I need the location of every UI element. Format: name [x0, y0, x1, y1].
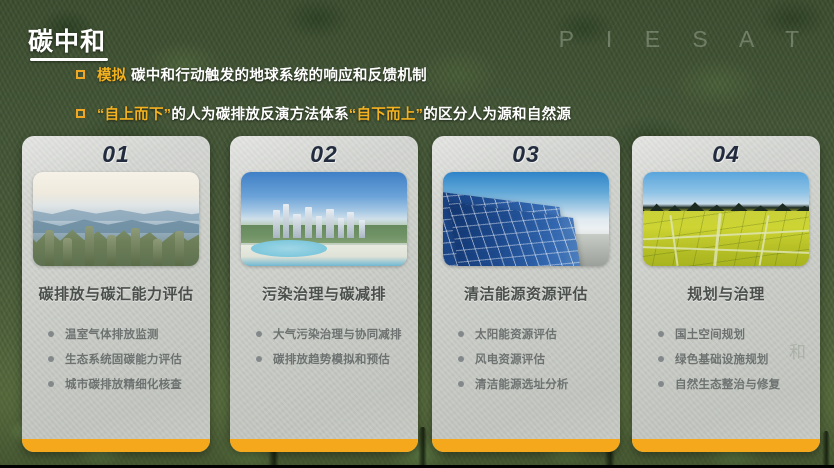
dot-bullet-icon	[658, 356, 664, 362]
list-item-label: 绿色基础设施规划	[675, 351, 769, 367]
coastal-city-photo	[241, 172, 407, 266]
list-item: 大气污染治理与协同减排	[256, 326, 418, 342]
card-04[interactable]: 04 规划与治理 国土空间规划 绿色基础设施规划 自然生态整治与修复	[632, 136, 820, 452]
dot-bullet-icon	[458, 331, 464, 337]
list-item: 清洁能源选址分析	[458, 376, 620, 392]
list-item-label: 温室气体排放监测	[65, 326, 159, 342]
square-bullet-icon	[76, 70, 85, 79]
card-02-number: 02	[310, 141, 338, 168]
title-underline	[30, 58, 108, 61]
dot-bullet-icon	[458, 356, 464, 362]
card-03-list: 太阳能资源评估 风电资源评估 清洁能源选址分析	[432, 326, 620, 392]
card-03-title: 清洁能源资源评估	[464, 283, 588, 304]
list-item-label: 风电资源评估	[475, 351, 545, 367]
list-item-label: 城市碳排放精细化核查	[65, 376, 182, 392]
list-item-label: 太阳能资源评估	[475, 326, 557, 342]
card-02-footer-bar	[230, 439, 418, 452]
header-bullet-2-highlight-a: “自上而下”	[97, 107, 171, 123]
header-bullet-2: “自上而下”的人为碳排放反演方法体系“自下而上”的区分人为源和自然源	[76, 103, 571, 124]
header-bullet-1-body: 碳中和行动触发的地球系统的响应和反馈机制	[127, 68, 427, 84]
card-03-number: 03	[512, 141, 540, 168]
header-bullet-2-highlight-b: “自下而上”	[349, 107, 423, 123]
list-item-label: 国土空间规划	[675, 326, 745, 342]
card-01-number: 01	[102, 141, 130, 168]
dot-bullet-icon	[256, 331, 262, 337]
card-04-number: 04	[712, 141, 740, 168]
card-02-title: 污染治理与碳减排	[262, 283, 386, 304]
card-04-list: 国土空间规划 绿色基础设施规划 自然生态整治与修复	[632, 326, 820, 392]
header-bullet-1: 模拟 碳中和行动触发的地球系统的响应和反馈机制	[76, 64, 427, 85]
list-item: 城市碳排放精细化核查	[48, 376, 210, 392]
list-item: 温室气体排放监测	[48, 326, 210, 342]
dot-bullet-icon	[658, 381, 664, 387]
dot-bullet-icon	[48, 356, 54, 362]
header-bullet-1-highlight: 模拟	[97, 68, 127, 84]
list-item: 绿色基础设施规划	[658, 351, 820, 367]
list-item-label: 生态系统固碳能力评估	[65, 351, 182, 367]
card-02[interactable]: 02 污染治理与碳减排 大气污	[230, 136, 418, 452]
card-02-list: 大气污染治理与协同减排 碳排放趋势模拟和预估	[230, 326, 418, 367]
rapeseed-fields-photo	[643, 172, 809, 266]
header-bullet-1-text: 模拟 碳中和行动触发的地球系统的响应和反馈机制	[97, 64, 427, 85]
list-item: 碳排放趋势模拟和预估	[256, 351, 418, 367]
header-bullet-2-post: 的区分人为源和自然源	[423, 107, 571, 123]
solar-panel-photo	[443, 172, 609, 266]
list-item-label: 碳排放趋势模拟和预估	[273, 351, 390, 367]
list-item: 自然生态整治与修复	[658, 376, 820, 392]
list-item-label: 自然生态整治与修复	[675, 376, 780, 392]
dot-bullet-icon	[658, 331, 664, 337]
card-01-footer-bar	[22, 439, 210, 452]
list-item: 风电资源评估	[458, 351, 620, 367]
card-04-footer-bar	[632, 439, 820, 452]
card-01[interactable]: 01 碳排放与碳汇能力评估 温室气体排放监测 生态系统固碳	[22, 136, 210, 452]
dot-bullet-icon	[48, 381, 54, 387]
header-bullet-2-text: “自上而下”的人为碳排放反演方法体系“自下而上”的区分人为源和自然源	[97, 103, 571, 124]
list-item-label: 清洁能源选址分析	[475, 376, 569, 392]
page-title: 碳中和	[28, 22, 106, 58]
card-01-title: 碳排放与碳汇能力评估	[38, 283, 193, 304]
square-bullet-icon	[76, 109, 85, 118]
card-03-footer-bar	[432, 439, 620, 452]
brand-watermark: P I E S A T	[559, 26, 812, 53]
dot-bullet-icon	[458, 381, 464, 387]
list-item: 太阳能资源评估	[458, 326, 620, 342]
dot-bullet-icon	[48, 331, 54, 337]
card-03[interactable]: 03 清洁能源资源评估 太阳能资源评估 风电资源评估 清洁能源选址分析	[432, 136, 620, 452]
list-item: 国土空间规划	[658, 326, 820, 342]
dot-bullet-icon	[256, 356, 262, 362]
list-item: 生态系统固碳能力评估	[48, 351, 210, 367]
card-04-title: 规划与治理	[687, 283, 765, 304]
list-item-label: 大气污染治理与协同减排	[273, 326, 402, 342]
card-01-list: 温室气体排放监测 生态系统固碳能力评估 城市碳排放精细化核查	[22, 326, 210, 392]
slide-root: P I E S A T 碳中和 模拟 碳中和行动触发的地球系统的响应和反馈机制 …	[0, 0, 834, 468]
card-row: 01 碳排放与碳汇能力评估 温室气体排放监测 生态系统固碳	[0, 136, 834, 452]
mountain-landscape-photo	[33, 172, 199, 266]
header-bullet-2-mid: 的人为碳排放反演方法体系	[171, 107, 349, 123]
